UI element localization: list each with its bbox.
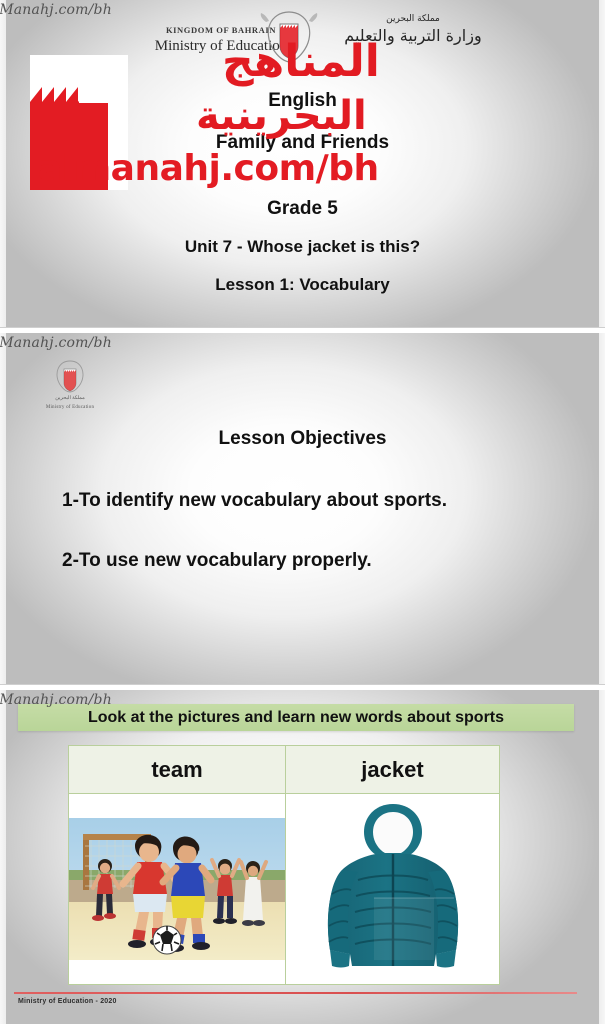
footer-text: Ministry of Education - 2020 bbox=[18, 998, 117, 1005]
slide-edge-left bbox=[0, 0, 6, 327]
vocab-word-cell: team bbox=[69, 746, 285, 794]
soccer-players-illustration bbox=[69, 818, 285, 960]
vocab-image-cell bbox=[69, 794, 285, 984]
brand-url-watermark: almanahj.com/bh bbox=[38, 148, 379, 189]
bahrain-crest-icon bbox=[50, 359, 90, 393]
objective-item-1: 1-To identify new vocabulary about sport… bbox=[0, 490, 605, 512]
grade-title: Grade 5 bbox=[0, 194, 605, 224]
watermark-cursive: alManahj.com/bh bbox=[0, 2, 112, 18]
vocab-word-cell: jacket bbox=[286, 746, 499, 794]
vocabulary-table: team bbox=[68, 745, 500, 985]
brand-arabic-top: المناهج bbox=[222, 40, 380, 84]
slide-objectives: alManahj.com/bh مملكة البحرين Ministry o… bbox=[0, 333, 605, 685]
vocab-word-jacket: jacket bbox=[361, 757, 423, 783]
instruction-text: Look at the pictures and learn new words… bbox=[88, 709, 504, 727]
vocab-word-team: team bbox=[151, 757, 202, 783]
watermark-cursive: alManahj.com/bh bbox=[0, 692, 112, 708]
vocab-column-jacket: jacket bbox=[286, 746, 499, 984]
slide-edge-left bbox=[0, 690, 6, 1024]
vocab-column-team: team bbox=[69, 746, 286, 984]
ministry-logo: مملكة البحرين Ministry of Education bbox=[38, 359, 102, 417]
slide-edge-right bbox=[599, 333, 605, 684]
slide-title: alManahj.com/bh KINGDOM OF BAHRAIN Minis… bbox=[0, 0, 605, 328]
teal-hooded-jacket-illustration bbox=[318, 798, 468, 980]
logo-ministry-label: Ministry of Education bbox=[38, 404, 102, 411]
footer-rule bbox=[14, 992, 577, 994]
kingdom-label-arabic: مملكة البحرين bbox=[338, 14, 488, 24]
unit-title: Unit 7 - Whose jacket is this? bbox=[0, 232, 605, 262]
lesson-title: Lesson 1: Vocabulary bbox=[0, 270, 605, 300]
slide-edge-right bbox=[599, 0, 605, 327]
logo-arabic-label: مملكة البحرين bbox=[38, 395, 102, 402]
instruction-banner: Look at the pictures and learn new words… bbox=[18, 704, 574, 731]
objectives-heading: Lesson Objectives bbox=[0, 428, 605, 450]
brand-arabic-bottom: البحرينية bbox=[196, 96, 367, 136]
slide-edge-left bbox=[0, 333, 6, 684]
slide-vocabulary: alManahj.com/bh Look at the pictures and… bbox=[0, 690, 605, 1024]
slide-edge-right bbox=[599, 690, 605, 1024]
objective-item-2: 2-To use new vocabulary properly. bbox=[0, 550, 605, 572]
watermark-cursive: alManahj.com/bh bbox=[0, 335, 112, 351]
slide-deck: alManahj.com/bh KINGDOM OF BAHRAIN Minis… bbox=[0, 0, 605, 1024]
vocab-image-cell bbox=[286, 794, 499, 984]
soccer-ball-icon bbox=[153, 926, 181, 954]
